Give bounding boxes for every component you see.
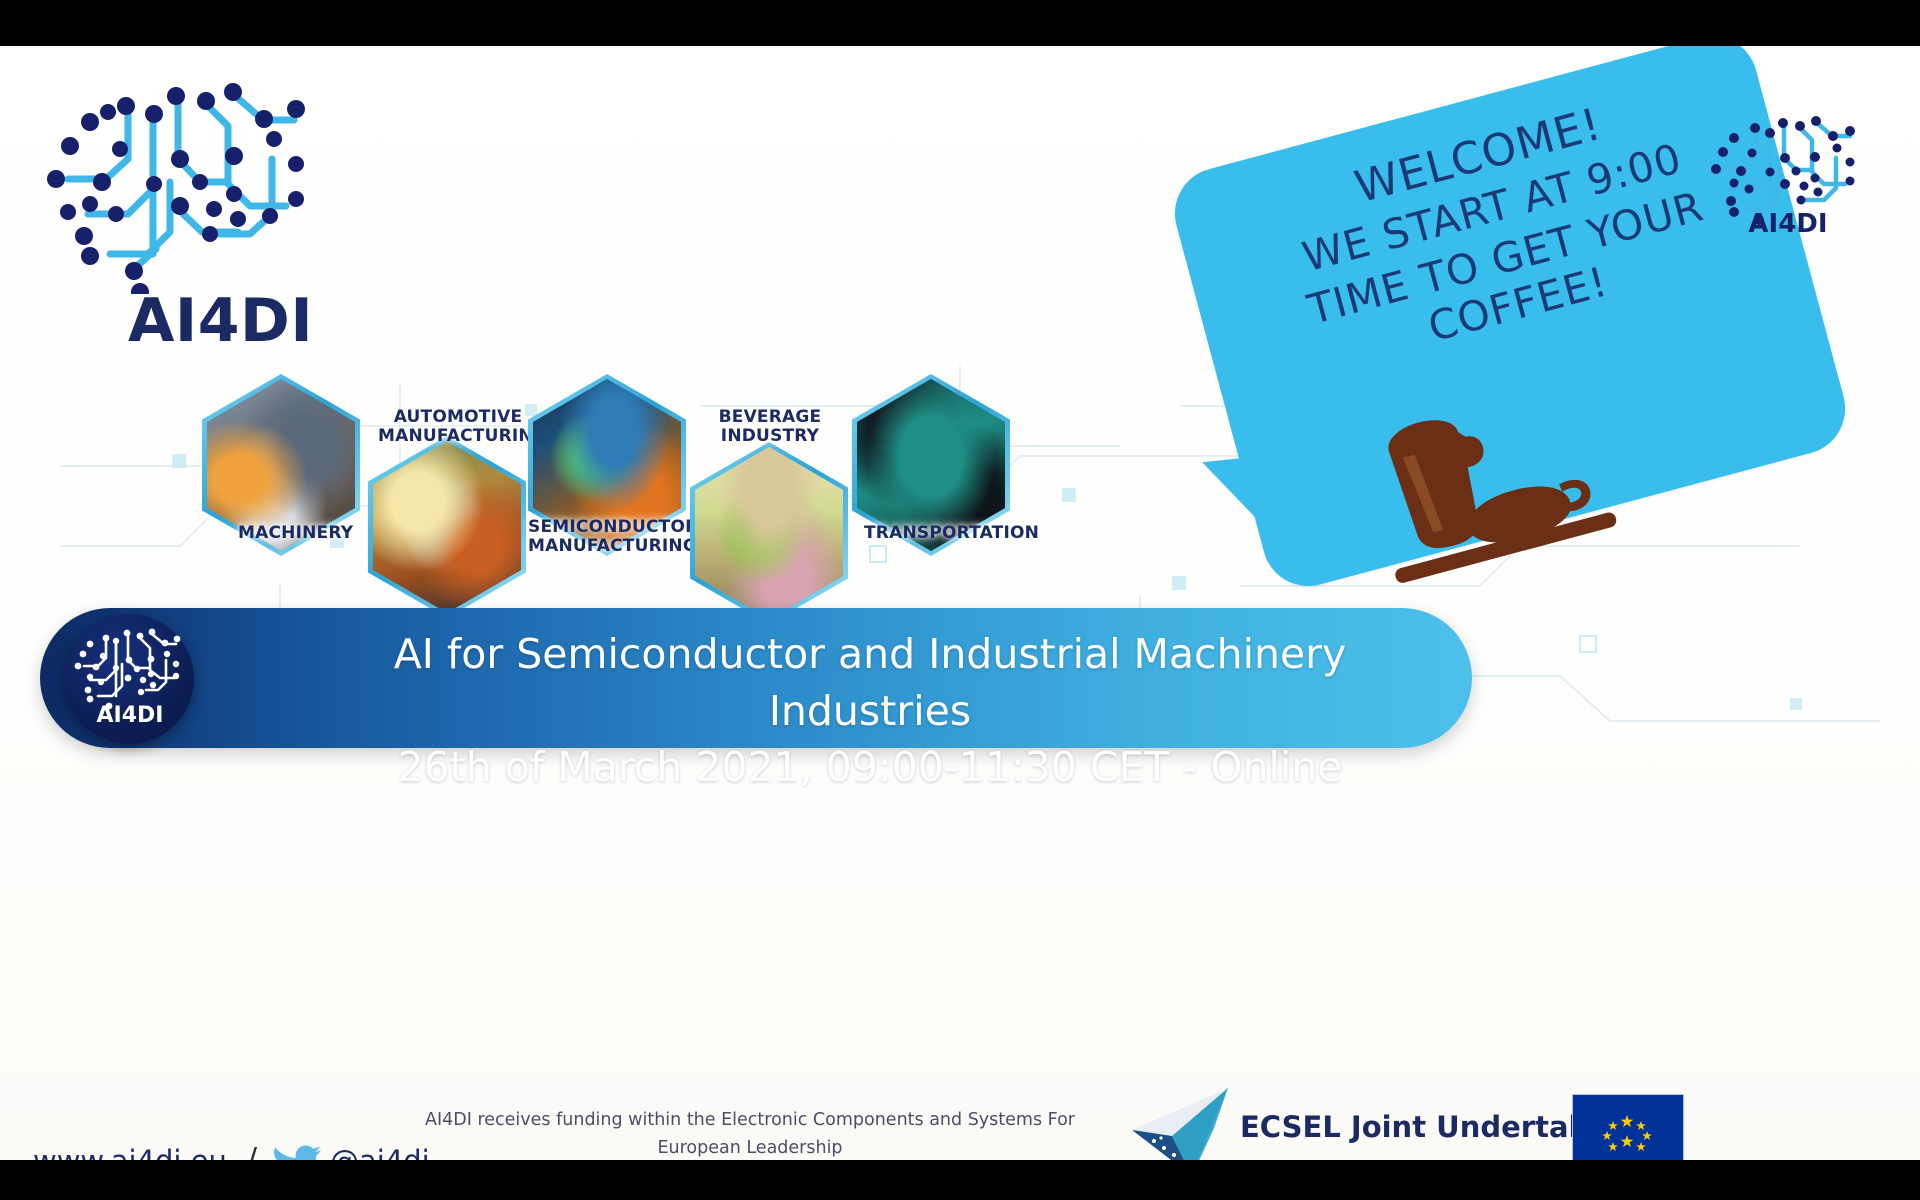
website-link[interactable]: www.ai4di.eu <box>33 1144 227 1160</box>
ai4di-badge-icon: AI4DI <box>64 614 194 744</box>
ecsel-checkmark-logo-icon <box>1128 1084 1238 1160</box>
banner-title: AI for Semiconductor and Industrial Mach… <box>290 626 1450 796</box>
hexagon-label-semiconductor: SEMICONDUCTOR MANUFACTURING <box>528 518 688 556</box>
svg-text:AI4DI: AI4DI <box>1748 209 1827 236</box>
footer-separator: / <box>247 1142 257 1160</box>
hexagon-label-beverage: BEVERAGE INDUSTRY <box>700 408 840 446</box>
hexagon-label-automotive: AUTOMOTIVE MANUFACTURING <box>378 408 538 446</box>
event-title-banner: AI4DI AI for Semiconductor and Industria… <box>40 608 1472 748</box>
hexagon-label-transportation: TRANSPORTATION <box>864 524 1039 543</box>
banner-title-line-2: 26th of March 2021, 09:00-11:30 CET - On… <box>290 739 1450 796</box>
hexagon-automotive[interactable] <box>368 436 526 618</box>
letterbox-top <box>0 0 1920 46</box>
presentation-slide: AI4DI MACHINERY AUTOMOTIVE MANUFACTURING… <box>0 46 1920 1160</box>
funding-line-1: AI4DI receives funding within the Electr… <box>400 1106 1100 1160</box>
slide-stage: AI4DI MACHINERY AUTOMOTIVE MANUFACTURING… <box>0 0 1920 1200</box>
hexagon-beverage[interactable] <box>690 442 848 624</box>
industry-hexagon-row: MACHINERY AUTOMOTIVE MANUFACTURING SEMIC… <box>0 296 1260 586</box>
welcome-speech-bubble: AI4DI WELCOME! WE START AT 9:00 TIME TO … <box>1190 66 1910 686</box>
ai4di-brain-circuit-icon <box>28 64 338 294</box>
banner-title-line-1: AI for Semiconductor and Industrial Mach… <box>290 626 1450 739</box>
beverage-photo <box>695 447 843 619</box>
european-union-flag-icon <box>1572 1094 1684 1160</box>
letterbox-bottom <box>0 1160 1920 1200</box>
slide-footer: www.ai4di.eu / @ai4di AI4DI receives fun… <box>0 1066 1920 1160</box>
funding-statement: AI4DI receives funding within the Electr… <box>400 1106 1100 1160</box>
automotive-photo <box>373 441 521 613</box>
ai4di-badge: AI4DI <box>64 614 194 744</box>
hexagon-label-machinery: MACHINERY <box>238 524 353 543</box>
svg-text:AI4DI: AI4DI <box>97 703 164 728</box>
twitter-bird-icon[interactable] <box>272 1144 322 1160</box>
